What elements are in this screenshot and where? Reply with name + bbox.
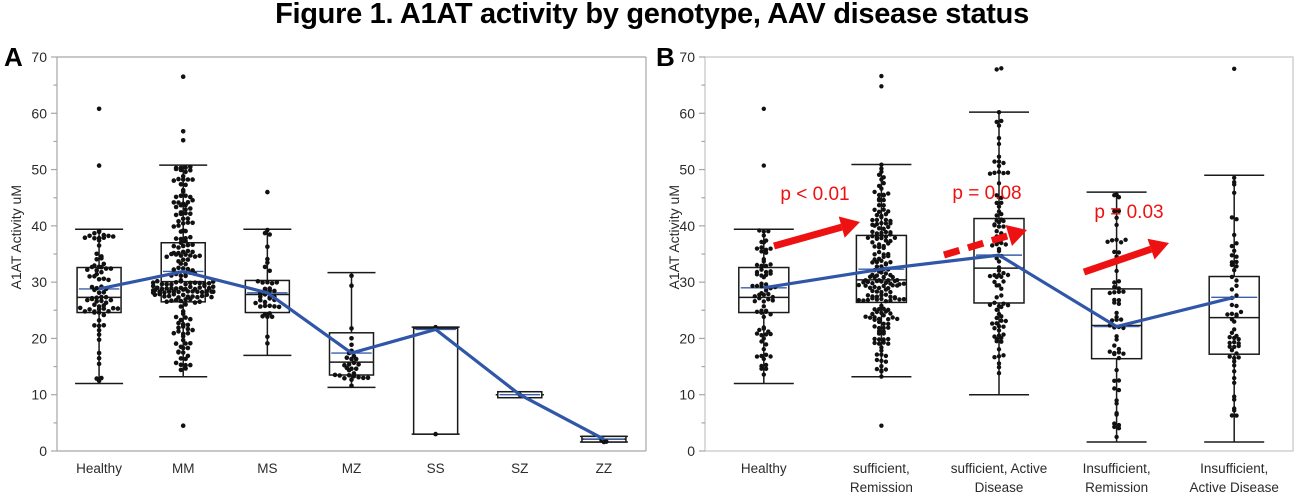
y-tick-label: 60 bbox=[679, 105, 695, 121]
data-point bbox=[1230, 303, 1234, 307]
data-point bbox=[759, 311, 763, 315]
data-point bbox=[997, 136, 1001, 140]
data-point bbox=[1114, 318, 1118, 322]
data-point bbox=[1112, 193, 1116, 197]
data-point bbox=[882, 193, 886, 197]
data-point bbox=[258, 304, 263, 309]
y-tick-label: 0 bbox=[39, 443, 47, 459]
data-point bbox=[179, 299, 184, 304]
data-point bbox=[174, 252, 179, 257]
data-point bbox=[759, 268, 763, 272]
x-category-label: Remission bbox=[1085, 480, 1148, 495]
data-point bbox=[879, 177, 883, 181]
data-point bbox=[97, 290, 102, 295]
data-point bbox=[997, 249, 1001, 253]
data-point bbox=[877, 193, 881, 197]
data-point bbox=[877, 203, 881, 207]
data-point bbox=[183, 302, 188, 307]
data-point bbox=[886, 317, 890, 321]
data-point bbox=[183, 341, 188, 346]
data-point bbox=[888, 311, 892, 315]
data-point bbox=[183, 183, 188, 188]
data-point bbox=[181, 189, 186, 194]
data-point bbox=[999, 275, 1003, 279]
data-point bbox=[1232, 359, 1236, 363]
data-point bbox=[997, 371, 1001, 375]
data-point bbox=[762, 259, 766, 263]
data-point bbox=[762, 107, 766, 111]
data-point bbox=[997, 204, 1001, 208]
data-point bbox=[354, 367, 359, 372]
data-point bbox=[275, 280, 280, 285]
data-point bbox=[879, 221, 883, 225]
data-point bbox=[179, 168, 184, 173]
x-category-label: Insufficient, bbox=[1200, 461, 1268, 476]
data-point bbox=[160, 282, 165, 287]
data-point bbox=[884, 230, 888, 234]
data-point bbox=[97, 332, 102, 337]
data-point bbox=[870, 240, 874, 244]
data-point bbox=[872, 275, 876, 279]
data-point bbox=[433, 432, 438, 437]
data-point bbox=[90, 265, 95, 270]
data-point bbox=[97, 163, 102, 168]
x-category-label: Healthy bbox=[741, 461, 787, 476]
data-point bbox=[179, 253, 184, 258]
data-point bbox=[884, 367, 888, 371]
data-point bbox=[877, 226, 881, 230]
data-point bbox=[988, 274, 992, 278]
data-point bbox=[893, 279, 897, 283]
data-point bbox=[183, 366, 188, 371]
data-point bbox=[197, 285, 202, 290]
data-point bbox=[762, 240, 766, 244]
data-point bbox=[97, 328, 102, 333]
data-point bbox=[1114, 311, 1118, 315]
data-point bbox=[992, 159, 996, 163]
data-point bbox=[181, 423, 186, 428]
x-category-label: MS bbox=[257, 461, 277, 476]
x-category-label: ZZ bbox=[596, 461, 613, 476]
data-point bbox=[361, 376, 366, 381]
data-point bbox=[997, 142, 1001, 146]
data-point bbox=[870, 218, 874, 222]
data-point bbox=[181, 221, 186, 226]
data-point bbox=[762, 229, 766, 233]
data-point bbox=[211, 289, 216, 294]
data-point bbox=[764, 310, 768, 314]
data-point bbox=[1239, 310, 1243, 314]
x-category-label: sufficient, bbox=[853, 461, 910, 476]
data-point bbox=[870, 296, 874, 300]
data-point bbox=[183, 194, 188, 199]
data-point bbox=[866, 236, 870, 240]
data-point bbox=[349, 357, 354, 362]
data-point bbox=[759, 249, 763, 253]
data-point bbox=[174, 315, 179, 320]
data-point bbox=[174, 341, 179, 346]
data-point bbox=[877, 342, 881, 346]
x-category-label: Remission bbox=[850, 480, 913, 495]
data-point bbox=[902, 282, 906, 286]
data-point bbox=[333, 373, 338, 378]
data-point bbox=[179, 182, 184, 187]
data-point bbox=[1230, 331, 1234, 335]
data-point bbox=[190, 221, 195, 226]
data-point bbox=[172, 200, 177, 205]
data-point bbox=[174, 298, 179, 303]
data-point bbox=[992, 326, 996, 330]
data-point bbox=[172, 331, 177, 336]
data-points bbox=[78, 107, 120, 384]
data-point bbox=[866, 298, 870, 302]
data-point bbox=[92, 274, 97, 279]
p-value-label: p = 0.03 bbox=[1094, 202, 1163, 223]
data-point bbox=[995, 67, 999, 71]
data-point bbox=[891, 283, 895, 287]
data-point bbox=[1232, 363, 1236, 367]
data-point bbox=[151, 284, 156, 289]
data-point bbox=[167, 294, 172, 299]
data-point bbox=[265, 244, 270, 249]
data-point bbox=[176, 245, 181, 250]
data-point bbox=[263, 265, 268, 270]
panel-b-plot: 010203040506070Healthysufficient,Remissi… bbox=[652, 0, 1304, 499]
data-point bbox=[997, 324, 1001, 328]
data-point bbox=[253, 301, 258, 306]
data-point bbox=[872, 208, 876, 212]
data-point bbox=[995, 283, 999, 287]
data-point bbox=[174, 213, 179, 218]
data-point bbox=[153, 288, 158, 293]
y-tick-label: 10 bbox=[31, 387, 47, 403]
data-point bbox=[884, 299, 888, 303]
data-point bbox=[188, 297, 193, 302]
data-point bbox=[186, 323, 191, 328]
data-point bbox=[200, 294, 205, 299]
data-point bbox=[893, 296, 897, 300]
data-point bbox=[884, 293, 888, 297]
data-point bbox=[895, 283, 899, 287]
data-point bbox=[92, 236, 97, 241]
data-point bbox=[762, 315, 766, 319]
data-point bbox=[750, 284, 754, 288]
data-point bbox=[186, 177, 191, 182]
data-point bbox=[1230, 312, 1234, 316]
data-point bbox=[882, 246, 886, 250]
data-point bbox=[183, 252, 188, 257]
data-point bbox=[762, 275, 766, 279]
data-point bbox=[176, 321, 181, 326]
data-point bbox=[102, 277, 107, 282]
data-point bbox=[272, 289, 277, 294]
data-point bbox=[1234, 304, 1238, 308]
data-point bbox=[764, 332, 768, 336]
data-point bbox=[999, 287, 1003, 291]
data-point bbox=[882, 203, 886, 207]
data-point bbox=[193, 300, 198, 305]
data-point bbox=[1228, 354, 1232, 358]
data-point bbox=[176, 223, 181, 228]
data-point bbox=[1232, 249, 1236, 253]
data-point bbox=[188, 253, 193, 258]
data-point bbox=[181, 257, 186, 262]
data-point bbox=[997, 110, 1001, 114]
data-point bbox=[258, 298, 263, 303]
data-point bbox=[172, 178, 177, 183]
data-point bbox=[197, 254, 202, 259]
data-point bbox=[768, 262, 772, 266]
data-point bbox=[877, 250, 881, 254]
data-point bbox=[893, 236, 897, 240]
data-point bbox=[92, 288, 97, 293]
data-point bbox=[176, 219, 181, 224]
data-point bbox=[179, 304, 184, 309]
data-point bbox=[181, 74, 186, 79]
data-point bbox=[755, 272, 759, 276]
data-point bbox=[183, 262, 188, 267]
data-point bbox=[94, 252, 99, 257]
data-point bbox=[104, 295, 109, 300]
data-point bbox=[169, 298, 174, 303]
data-point bbox=[872, 285, 876, 289]
data-point bbox=[1112, 425, 1116, 429]
data-point bbox=[1234, 314, 1238, 318]
data-point bbox=[875, 289, 879, 293]
data-point bbox=[997, 159, 1001, 163]
data-point bbox=[186, 346, 191, 351]
data-point bbox=[263, 304, 268, 309]
data-point bbox=[1117, 250, 1121, 254]
data-point bbox=[999, 66, 1003, 70]
data-point bbox=[97, 277, 102, 282]
y-tick-label: 20 bbox=[31, 330, 47, 346]
data-point bbox=[265, 280, 270, 285]
data-point bbox=[94, 257, 99, 262]
data-point bbox=[888, 232, 892, 236]
data-point bbox=[181, 293, 186, 298]
data-point bbox=[195, 290, 200, 295]
data-point bbox=[999, 319, 1003, 323]
data-point bbox=[768, 271, 772, 275]
data-point bbox=[1230, 215, 1234, 219]
data-point bbox=[188, 285, 193, 290]
data-point bbox=[183, 239, 188, 244]
data-point bbox=[879, 215, 883, 219]
data-point bbox=[186, 216, 191, 221]
data-point bbox=[263, 231, 268, 236]
data-point bbox=[886, 254, 890, 258]
data-point bbox=[1121, 290, 1125, 294]
data-point bbox=[193, 254, 198, 259]
data-point bbox=[764, 264, 768, 268]
data-point bbox=[1237, 344, 1241, 348]
data-point bbox=[342, 376, 347, 381]
data-point bbox=[870, 230, 874, 234]
data-point bbox=[999, 314, 1003, 318]
data-point bbox=[1105, 240, 1109, 244]
data-point bbox=[1117, 195, 1121, 199]
data-point bbox=[116, 306, 121, 311]
data-point bbox=[602, 440, 607, 445]
data-point bbox=[337, 373, 342, 378]
data-point bbox=[1112, 300, 1116, 304]
data-point bbox=[188, 281, 193, 286]
data-point bbox=[106, 278, 111, 283]
data-point bbox=[349, 326, 354, 331]
data-point bbox=[172, 292, 177, 297]
data-point bbox=[1234, 284, 1238, 288]
data-point bbox=[181, 138, 186, 143]
data-point bbox=[186, 257, 191, 262]
box-group bbox=[1204, 175, 1264, 442]
data-point bbox=[97, 362, 102, 367]
data-point bbox=[267, 232, 272, 237]
data-point bbox=[1112, 285, 1116, 289]
annotation-group: p < 0.01 bbox=[774, 184, 860, 246]
data-point bbox=[99, 299, 104, 304]
panel-a: A A1AT Activity uM 010203040506070Health… bbox=[0, 0, 660, 499]
y-tick-label: 50 bbox=[31, 162, 47, 178]
data-point bbox=[1232, 340, 1236, 344]
data-point bbox=[999, 340, 1003, 344]
data-point bbox=[995, 295, 999, 299]
data-point bbox=[176, 350, 181, 355]
data-point bbox=[1006, 171, 1010, 175]
y-tick-label: 0 bbox=[687, 443, 695, 459]
data-point bbox=[999, 212, 1003, 216]
data-point bbox=[877, 331, 881, 335]
data-point bbox=[999, 293, 1003, 297]
data-point bbox=[349, 377, 354, 382]
data-point bbox=[1232, 397, 1236, 401]
data-point bbox=[768, 354, 772, 358]
y-tick-label: 40 bbox=[31, 218, 47, 234]
data-point bbox=[872, 318, 876, 322]
data-point bbox=[172, 244, 177, 249]
data-point bbox=[349, 336, 354, 341]
data-point bbox=[997, 269, 1001, 273]
data-point bbox=[97, 318, 102, 323]
data-point bbox=[875, 218, 879, 222]
y-tick-label: 70 bbox=[31, 49, 47, 65]
data-point bbox=[995, 120, 999, 124]
data-point bbox=[1108, 291, 1112, 295]
data-point bbox=[90, 297, 95, 302]
data-point bbox=[190, 242, 195, 247]
data-point bbox=[1232, 67, 1236, 71]
data-point bbox=[764, 342, 768, 346]
data-point bbox=[1232, 336, 1236, 340]
data-point bbox=[205, 292, 210, 297]
data-point bbox=[111, 306, 116, 311]
data-point bbox=[764, 251, 768, 255]
data-point bbox=[879, 186, 883, 190]
data-point bbox=[1114, 401, 1118, 405]
data-point bbox=[1112, 250, 1116, 254]
data-point bbox=[1232, 369, 1236, 373]
data-point bbox=[882, 275, 886, 279]
data-point bbox=[97, 243, 102, 248]
data-point bbox=[768, 247, 772, 251]
data-point bbox=[1234, 293, 1238, 297]
data-point bbox=[870, 289, 874, 293]
x-category-label: SZ bbox=[511, 461, 528, 476]
data-point bbox=[879, 297, 883, 301]
data-point bbox=[172, 224, 177, 229]
data-point bbox=[256, 279, 261, 284]
data-point bbox=[997, 164, 1001, 168]
data-point bbox=[872, 244, 876, 248]
data-point bbox=[875, 231, 879, 235]
data-point bbox=[188, 168, 193, 173]
data-point bbox=[992, 355, 996, 359]
data-point bbox=[879, 369, 883, 373]
x-category-label: Disease bbox=[975, 480, 1024, 495]
data-point bbox=[1001, 279, 1005, 283]
y-tick-label: 40 bbox=[679, 218, 695, 234]
data-point bbox=[85, 267, 90, 272]
data-point bbox=[277, 305, 282, 310]
data-point bbox=[347, 373, 352, 378]
data-point bbox=[990, 321, 994, 325]
data-point bbox=[265, 341, 270, 346]
data-point bbox=[1234, 260, 1238, 264]
data-point bbox=[1001, 219, 1005, 223]
data-point bbox=[78, 306, 83, 311]
data-point bbox=[270, 281, 275, 286]
data-point bbox=[164, 254, 169, 259]
data-point bbox=[995, 275, 999, 279]
data-point bbox=[762, 299, 766, 303]
data-point bbox=[349, 274, 354, 279]
data-point bbox=[349, 384, 354, 389]
data-point bbox=[97, 310, 102, 315]
data-point bbox=[179, 212, 184, 217]
data-point bbox=[1232, 182, 1236, 186]
data-point bbox=[886, 191, 890, 195]
data-point bbox=[265, 190, 270, 195]
data-point bbox=[190, 177, 195, 182]
data-point bbox=[109, 266, 114, 271]
data-point bbox=[764, 353, 768, 357]
data-point bbox=[757, 296, 761, 300]
data-point bbox=[870, 281, 874, 285]
data-point bbox=[771, 298, 775, 302]
data-point bbox=[861, 298, 865, 302]
data-point bbox=[886, 225, 890, 229]
data-point bbox=[181, 324, 186, 329]
box-rect bbox=[245, 280, 289, 312]
data-point bbox=[183, 165, 188, 170]
data-point bbox=[183, 211, 188, 216]
data-point bbox=[1237, 355, 1241, 359]
data-point bbox=[179, 274, 184, 279]
data-point bbox=[1117, 302, 1121, 306]
x-category-label: SS bbox=[427, 461, 445, 476]
data-point bbox=[1123, 238, 1127, 242]
data-point bbox=[99, 265, 104, 270]
data-point bbox=[1004, 319, 1008, 323]
data-point bbox=[766, 297, 770, 301]
data-point bbox=[870, 260, 874, 264]
data-point bbox=[1234, 241, 1238, 245]
data-point bbox=[999, 336, 1003, 340]
data-point bbox=[1001, 325, 1005, 329]
data-point bbox=[176, 266, 181, 271]
data-point bbox=[366, 376, 371, 381]
data-point bbox=[997, 328, 1001, 332]
